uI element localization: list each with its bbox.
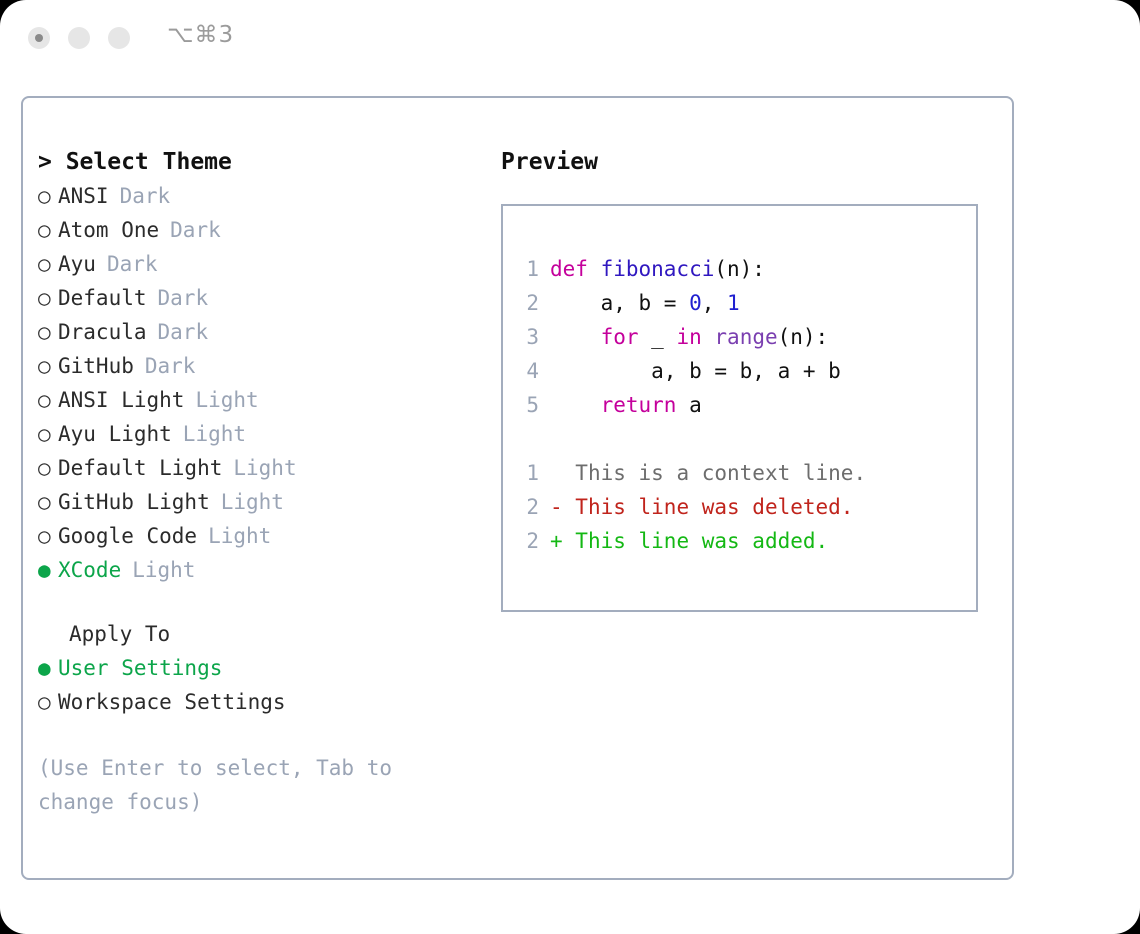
code-blank-line [515, 422, 975, 456]
diff-line-text: This line was deleted. [575, 490, 853, 524]
code-line-text: return a [550, 388, 702, 422]
radio-unselected-icon: ○ [38, 451, 58, 485]
theme-option-xcode[interactable]: ●XCodeLight [38, 553, 478, 587]
radio-selected-icon: ● [38, 651, 58, 685]
window-dot-active-inner [35, 34, 43, 42]
radio-unselected-icon: ○ [38, 485, 58, 519]
radio-unselected-icon: ○ [38, 179, 58, 213]
diff-line-number: 2 [515, 490, 550, 524]
theme-option-default[interactable]: ○DefaultDark [38, 281, 478, 315]
theme-option-tag: Light [197, 519, 271, 553]
apply-to-option-user-settings[interactable]: ●User Settings [38, 651, 478, 685]
radio-unselected-icon: ○ [38, 247, 58, 281]
diff-marker: + [550, 524, 575, 558]
theme-option-tag: Light [184, 383, 258, 417]
diff-marker: - [550, 490, 575, 524]
code-line: 5 return a [515, 388, 975, 422]
theme-option-label: GitHub [58, 349, 134, 383]
theme-option-label: Default Light [58, 451, 222, 485]
code-line-text: a, b = b, a + b [550, 354, 841, 388]
theme-option-tag: Dark [109, 179, 171, 213]
window-dot-active[interactable] [28, 27, 50, 49]
diff-marker [550, 456, 575, 490]
code-line-text: def fibonacci(n): [550, 252, 765, 286]
code-line-text: for _ in range(n): [550, 320, 828, 354]
theme-option-tag: Light [210, 485, 284, 519]
code-token-pl [702, 325, 715, 349]
keyboard-hint-text: (Use Enter to select, Tab to change focu… [38, 751, 448, 819]
theme-option-tag: Light [222, 451, 296, 485]
theme-option-tag: Dark [96, 247, 158, 281]
theme-option-dracula[interactable]: ○DraculaDark [38, 315, 478, 349]
theme-option-tag: Light [121, 553, 195, 587]
theme-picker-card: > Select Theme ○ANSIDark○Atom OneDark○Ay… [21, 96, 1014, 880]
keyboard-shortcut-label: ⌥⌘3 [167, 22, 234, 48]
code-token-fn: fibonacci [601, 257, 715, 281]
code-token-kw: def [550, 257, 601, 281]
theme-option-label: XCode [58, 553, 121, 587]
radio-unselected-icon: ○ [38, 383, 58, 417]
theme-option-label: ANSI [58, 179, 109, 213]
code-token-kw: for [601, 325, 639, 349]
theme-option-label: Google Code [58, 519, 197, 553]
theme-option-label: Ayu [58, 247, 96, 281]
select-theme-header: > Select Theme [38, 145, 478, 179]
radio-unselected-icon: ○ [38, 315, 58, 349]
radio-unselected-icon: ○ [38, 685, 58, 719]
app-window: ⌥⌘3 > Select Theme ○ANSIDark○Atom OneDar… [0, 0, 1140, 934]
code-token-pl: , [702, 291, 727, 315]
theme-option-label: Default [58, 281, 147, 315]
code-line-number: 4 [515, 354, 550, 388]
code-token-call: range [714, 325, 777, 349]
window-dot-3[interactable] [108, 27, 130, 49]
preview-box: 1def fibonacci(n):2 a, b = 0, 13 for _ i… [501, 204, 978, 612]
code-token-num: 0 [689, 291, 702, 315]
theme-option-label: Dracula [58, 315, 147, 349]
diff-line-add: 2+ This line was added. [515, 524, 975, 558]
diff-line-ctx: 1 This is a context line. [515, 456, 975, 490]
theme-option-tag: Dark [147, 315, 209, 349]
code-line-text: a, b = 0, 1 [550, 286, 740, 320]
code-token-pl: _ [639, 325, 677, 349]
code-token-kw: return [601, 393, 677, 417]
theme-option-google-code[interactable]: ○Google CodeLight [38, 519, 478, 553]
theme-option-atom-one[interactable]: ○Atom OneDark [38, 213, 478, 247]
diff-line-text: This line was added. [575, 524, 828, 558]
theme-option-label: ANSI Light [58, 383, 184, 417]
code-line: 4 a, b = b, a + b [515, 354, 975, 388]
theme-option-tag: Dark [159, 213, 221, 247]
theme-list: ○ANSIDark○Atom OneDark○AyuDark○DefaultDa… [38, 179, 478, 587]
theme-option-tag: Light [172, 417, 246, 451]
apply-to-option-label: Workspace Settings [58, 685, 286, 719]
radio-unselected-icon: ○ [38, 281, 58, 315]
theme-option-ayu-light[interactable]: ○Ayu LightLight [38, 417, 478, 451]
theme-option-ansi[interactable]: ○ANSIDark [38, 179, 478, 213]
code-line: 2 a, b = 0, 1 [515, 286, 975, 320]
code-preview: 1def fibonacci(n):2 a, b = 0, 13 for _ i… [515, 252, 975, 558]
theme-option-label: GitHub Light [58, 485, 210, 519]
theme-option-default-light[interactable]: ○Default LightLight [38, 451, 478, 485]
theme-option-label: Atom One [58, 213, 159, 247]
code-line: 3 for _ in range(n): [515, 320, 975, 354]
radio-unselected-icon: ○ [38, 417, 58, 451]
theme-option-tag: Dark [147, 281, 209, 315]
code-token-num: 1 [727, 291, 740, 315]
apply-to-header: Apply To [38, 617, 478, 651]
preview-header: Preview [501, 145, 1001, 179]
theme-list-panel: > Select Theme ○ANSIDark○Atom OneDark○Ay… [38, 145, 478, 819]
code-token-pl [550, 393, 601, 417]
code-token-kw: in [676, 325, 701, 349]
apply-to-list: ●User Settings○Workspace Settings [38, 651, 478, 719]
theme-option-github-light[interactable]: ○GitHub LightLight [38, 485, 478, 519]
radio-unselected-icon: ○ [38, 519, 58, 553]
theme-option-label: Ayu Light [58, 417, 172, 451]
code-token-pl: (n): [778, 325, 829, 349]
apply-to-option-label: User Settings [58, 651, 222, 685]
code-line-number: 2 [515, 286, 550, 320]
code-token-pl: a [676, 393, 701, 417]
preview-panel: Preview 1def fibonacci(n):2 a, b = 0, 13… [501, 145, 1001, 179]
code-token-pl [550, 325, 601, 349]
apply-to-section: Apply To ●User Settings○Workspace Settin… [38, 617, 478, 719]
code-token-pl: a, b = b, a + b [550, 359, 841, 383]
radio-selected-icon: ● [38, 553, 58, 587]
code-line: 1def fibonacci(n): [515, 252, 975, 286]
code-line-number: 3 [515, 320, 550, 354]
code-line-number: 1 [515, 252, 550, 286]
theme-option-ayu[interactable]: ○AyuDark [38, 247, 478, 281]
theme-option-tag: Dark [134, 349, 196, 383]
title-bar: ⌥⌘3 [0, 0, 1140, 78]
code-token-pl: a, b = [550, 291, 689, 315]
apply-to-option-workspace-settings[interactable]: ○Workspace Settings [38, 685, 478, 719]
diff-line-del: 2- This line was deleted. [515, 490, 975, 524]
radio-unselected-icon: ○ [38, 349, 58, 383]
radio-unselected-icon: ○ [38, 213, 58, 247]
window-dot-2[interactable] [68, 27, 90, 49]
theme-option-github[interactable]: ○GitHubDark [38, 349, 478, 383]
diff-line-number: 1 [515, 456, 550, 490]
diff-line-number: 2 [515, 524, 550, 558]
theme-option-ansi-light[interactable]: ○ANSI LightLight [38, 383, 478, 417]
code-token-pl: (n): [714, 257, 765, 281]
code-line-number: 5 [515, 388, 550, 422]
diff-line-text: This is a context line. [575, 456, 866, 490]
